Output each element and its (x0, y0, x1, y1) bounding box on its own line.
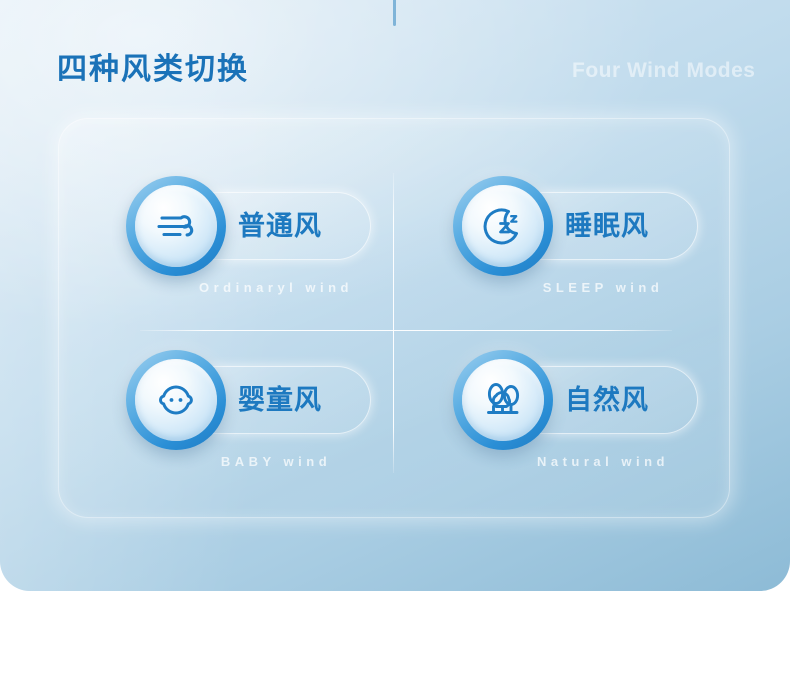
page-subtitle: Four Wind Modes (572, 57, 755, 85)
page-title: 四种风类切换 (57, 50, 249, 90)
mode-badge-ordinary (126, 176, 226, 276)
mode-caption-natural: Natural wind (453, 454, 753, 469)
mode-item-sleep[interactable]: 睡眠风 SLEEP wind (453, 176, 753, 311)
moon-sleep-icon (462, 185, 544, 267)
mode-caption-baby: BABY wind (126, 454, 426, 469)
trees-icon (462, 359, 544, 441)
mode-row-natural: 自然风 (453, 350, 753, 450)
mode-item-ordinary[interactable]: 普通风 Ordinaryl wind (126, 176, 426, 311)
mode-caption-sleep: SLEEP wind (453, 280, 753, 295)
mode-item-natural[interactable]: 自然风 Natural wind (453, 350, 753, 485)
mode-label-sleep: 睡眠风 (565, 192, 745, 260)
mode-item-baby[interactable]: 婴童风 BABY wind (126, 350, 426, 485)
wind-modes-page: 四种风类切换 Four Wind Modes 普通风 Ordinaryl win… (0, 0, 790, 680)
top-center-tick (393, 0, 396, 26)
mode-badge-sleep (453, 176, 553, 276)
baby-face-icon (135, 359, 217, 441)
mode-badge-baby (126, 350, 226, 450)
mode-label-natural: 自然风 (565, 366, 745, 434)
horizontal-divider (140, 330, 672, 331)
mode-row-sleep: 睡眠风 (453, 176, 753, 276)
mode-row-baby: 婴童风 (126, 350, 426, 450)
mode-badge-natural (453, 350, 553, 450)
mode-row-ordinary: 普通风 (126, 176, 426, 276)
mode-label-ordinary: 普通风 (238, 192, 418, 260)
wind-icon (135, 185, 217, 267)
mode-caption-ordinary: Ordinaryl wind (126, 280, 426, 295)
mode-label-baby: 婴童风 (238, 366, 418, 434)
